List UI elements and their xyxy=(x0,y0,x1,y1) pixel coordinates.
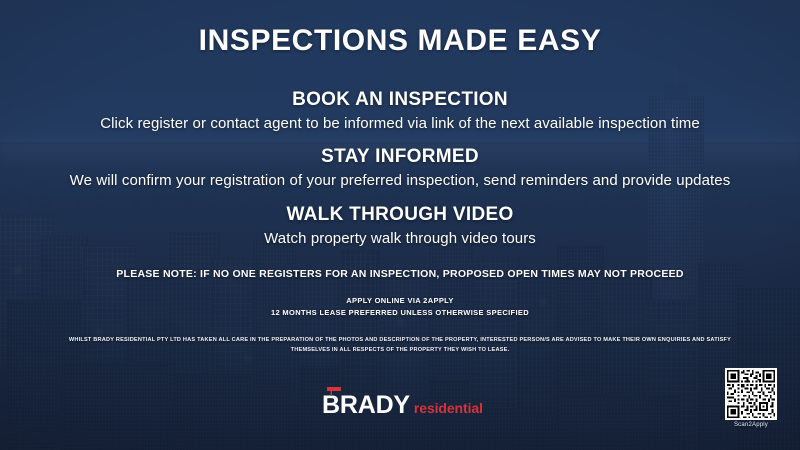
poster-content: INSPECTIONS MADE EASY BOOK AN INSPECTION… xyxy=(0,0,800,450)
apply-info: APPLY ONLINE VIA 2APPLY 12 MONTHS LEASE … xyxy=(0,295,800,318)
logo-suffix: residential xyxy=(414,395,483,421)
qr-code-icon[interactable] xyxy=(725,368,777,420)
section-heading: WALK THROUGH VIDEO xyxy=(0,204,800,226)
lease-term-line: 12 MONTHS LEASE PREFERRED UNLESS OTHERWI… xyxy=(0,307,800,319)
section-heading: BOOK AN INSPECTION xyxy=(0,89,800,111)
section-stay-informed: STAY INFORMED We will confirm your regis… xyxy=(0,146,800,189)
section-walk-through-video: WALK THROUGH VIDEO Watch property walk t… xyxy=(0,204,800,247)
brady-residential-logo: BRADY residential xyxy=(322,392,483,418)
page-title: INSPECTIONS MADE EASY xyxy=(0,24,800,58)
please-note-text: PLEASE NOTE: IF NO ONE REGISTERS FOR AN … xyxy=(0,268,800,280)
scan2apply-qr-block[interactable]: Scan2Apply xyxy=(725,368,777,428)
apply-online-line: APPLY ONLINE VIA 2APPLY xyxy=(0,295,800,307)
section-book-an-inspection: BOOK AN INSPECTION Click register or con… xyxy=(0,89,800,132)
section-subtext: Watch property walk through video tours xyxy=(0,230,800,247)
section-heading: STAY INFORMED xyxy=(0,146,800,168)
section-subtext: We will confirm your registration of you… xyxy=(0,172,800,189)
disclaimer-text: WHILST BRADY RESIDENTIAL PTY LTD HAS TAK… xyxy=(60,336,740,356)
red-flag-icon xyxy=(326,386,342,397)
section-subtext: Click register or contact agent to be in… xyxy=(0,115,800,132)
qr-label: Scan2Apply xyxy=(725,422,777,428)
inspection-poster: INSPECTIONS MADE EASY BOOK AN INSPECTION… xyxy=(0,0,800,450)
